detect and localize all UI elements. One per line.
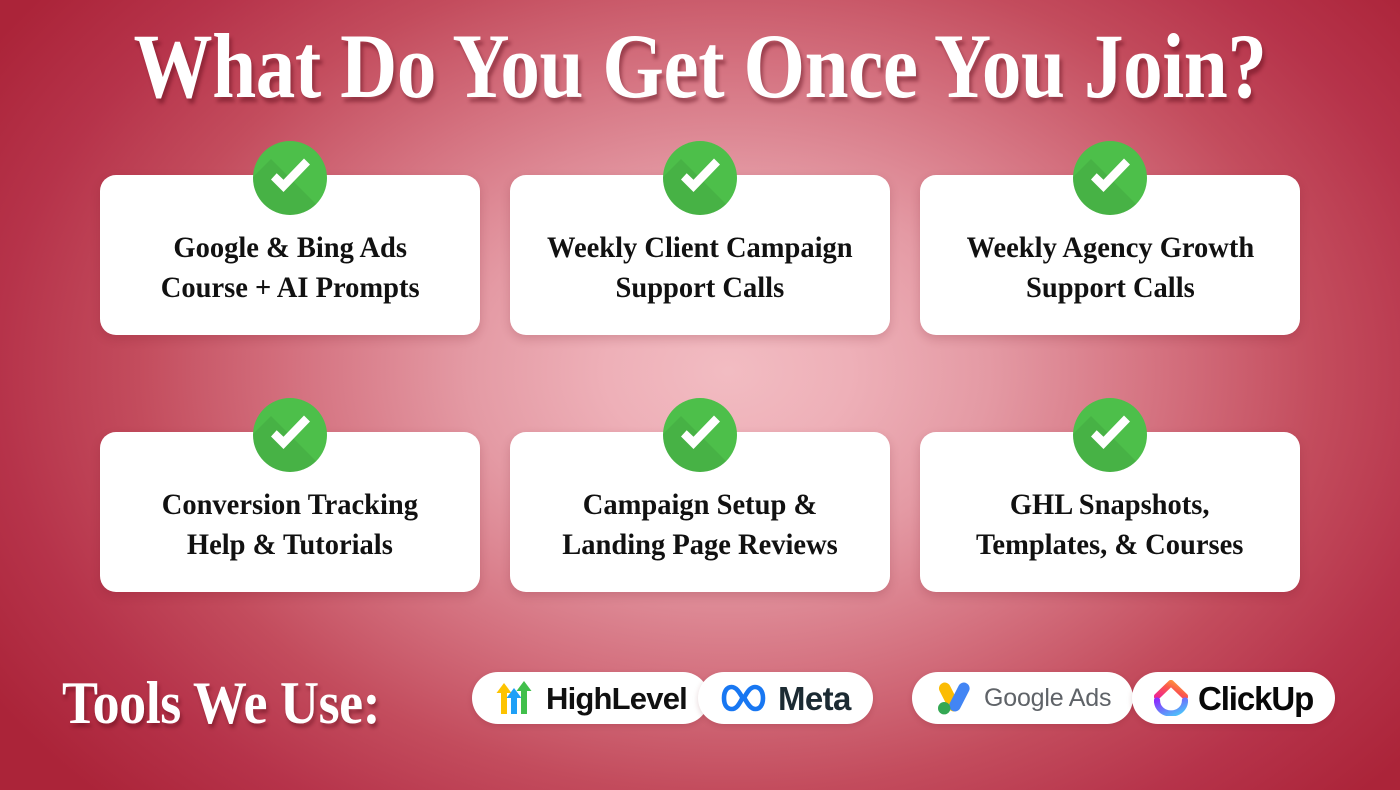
- benefit-line-2: Support Calls: [547, 268, 853, 308]
- tool-pill-meta[interactable]: Meta: [698, 672, 873, 724]
- benefit-line-1: Campaign Setup &: [562, 485, 838, 525]
- benefit-card[interactable]: Google & Bing Ads Course + AI Prompts: [100, 175, 480, 335]
- tool-name-clickup: ClickUp: [1198, 682, 1313, 715]
- tool-name-google-ads: Google Ads: [984, 686, 1111, 711]
- benefit-card[interactable]: Weekly Agency Growth Support Calls: [920, 175, 1300, 335]
- benefit-text: Campaign Setup & Landing Page Reviews: [562, 485, 838, 565]
- green-check-icon: [663, 141, 737, 215]
- tool-name-meta: Meta: [778, 682, 851, 715]
- benefit-line-2: Templates, & Courses: [976, 525, 1243, 565]
- green-check-icon: [253, 141, 327, 215]
- benefit-line-1: Weekly Agency Growth: [966, 228, 1254, 268]
- benefit-line-1: Conversion Tracking: [162, 485, 418, 525]
- tool-name-highlevel: HighLevel: [546, 683, 687, 714]
- benefit-card[interactable]: Campaign Setup & Landing Page Reviews: [510, 432, 890, 592]
- tool-pill-clickup[interactable]: ClickUp: [1132, 672, 1335, 724]
- tools-label: Tools We Use:: [62, 673, 380, 733]
- tool-pill-google-ads[interactable]: Google Ads: [912, 672, 1133, 724]
- green-check-icon: [1073, 398, 1147, 472]
- page-title: What Do You Get Once You Join?: [98, 18, 1302, 115]
- slide-canvas: What Do You Get Once You Join? Google & …: [0, 0, 1400, 790]
- benefit-text: GHL Snapshots, Templates, & Courses: [976, 485, 1243, 565]
- benefit-card[interactable]: GHL Snapshots, Templates, & Courses: [920, 432, 1300, 592]
- google-ads-icon: [934, 680, 974, 716]
- green-check-icon: [1073, 141, 1147, 215]
- benefit-line-2: Landing Page Reviews: [562, 525, 838, 565]
- meta-infinity-icon: [720, 684, 768, 712]
- clickup-icon: [1154, 680, 1188, 716]
- benefit-card[interactable]: Conversion Tracking Help & Tutorials: [100, 432, 480, 592]
- benefit-line-1: Weekly Client Campaign: [547, 228, 853, 268]
- green-check-icon: [253, 398, 327, 472]
- benefit-line-1: Google & Bing Ads: [161, 228, 420, 268]
- tool-pill-highlevel[interactable]: HighLevel: [472, 672, 709, 724]
- benefit-line-2: Course + AI Prompts: [161, 268, 420, 308]
- green-check-icon: [663, 398, 737, 472]
- benefit-text: Weekly Client Campaign Support Calls: [547, 228, 853, 308]
- benefit-text: Google & Bing Ads Course + AI Prompts: [161, 228, 420, 308]
- benefit-card[interactable]: Weekly Client Campaign Support Calls: [510, 175, 890, 335]
- benefit-text: Weekly Agency Growth Support Calls: [966, 228, 1254, 308]
- benefit-line-2: Help & Tutorials: [162, 525, 418, 565]
- benefit-line-2: Support Calls: [966, 268, 1254, 308]
- benefit-text: Conversion Tracking Help & Tutorials: [162, 485, 418, 565]
- highlevel-arrows-icon: [494, 681, 536, 715]
- benefit-line-1: GHL Snapshots,: [976, 485, 1243, 525]
